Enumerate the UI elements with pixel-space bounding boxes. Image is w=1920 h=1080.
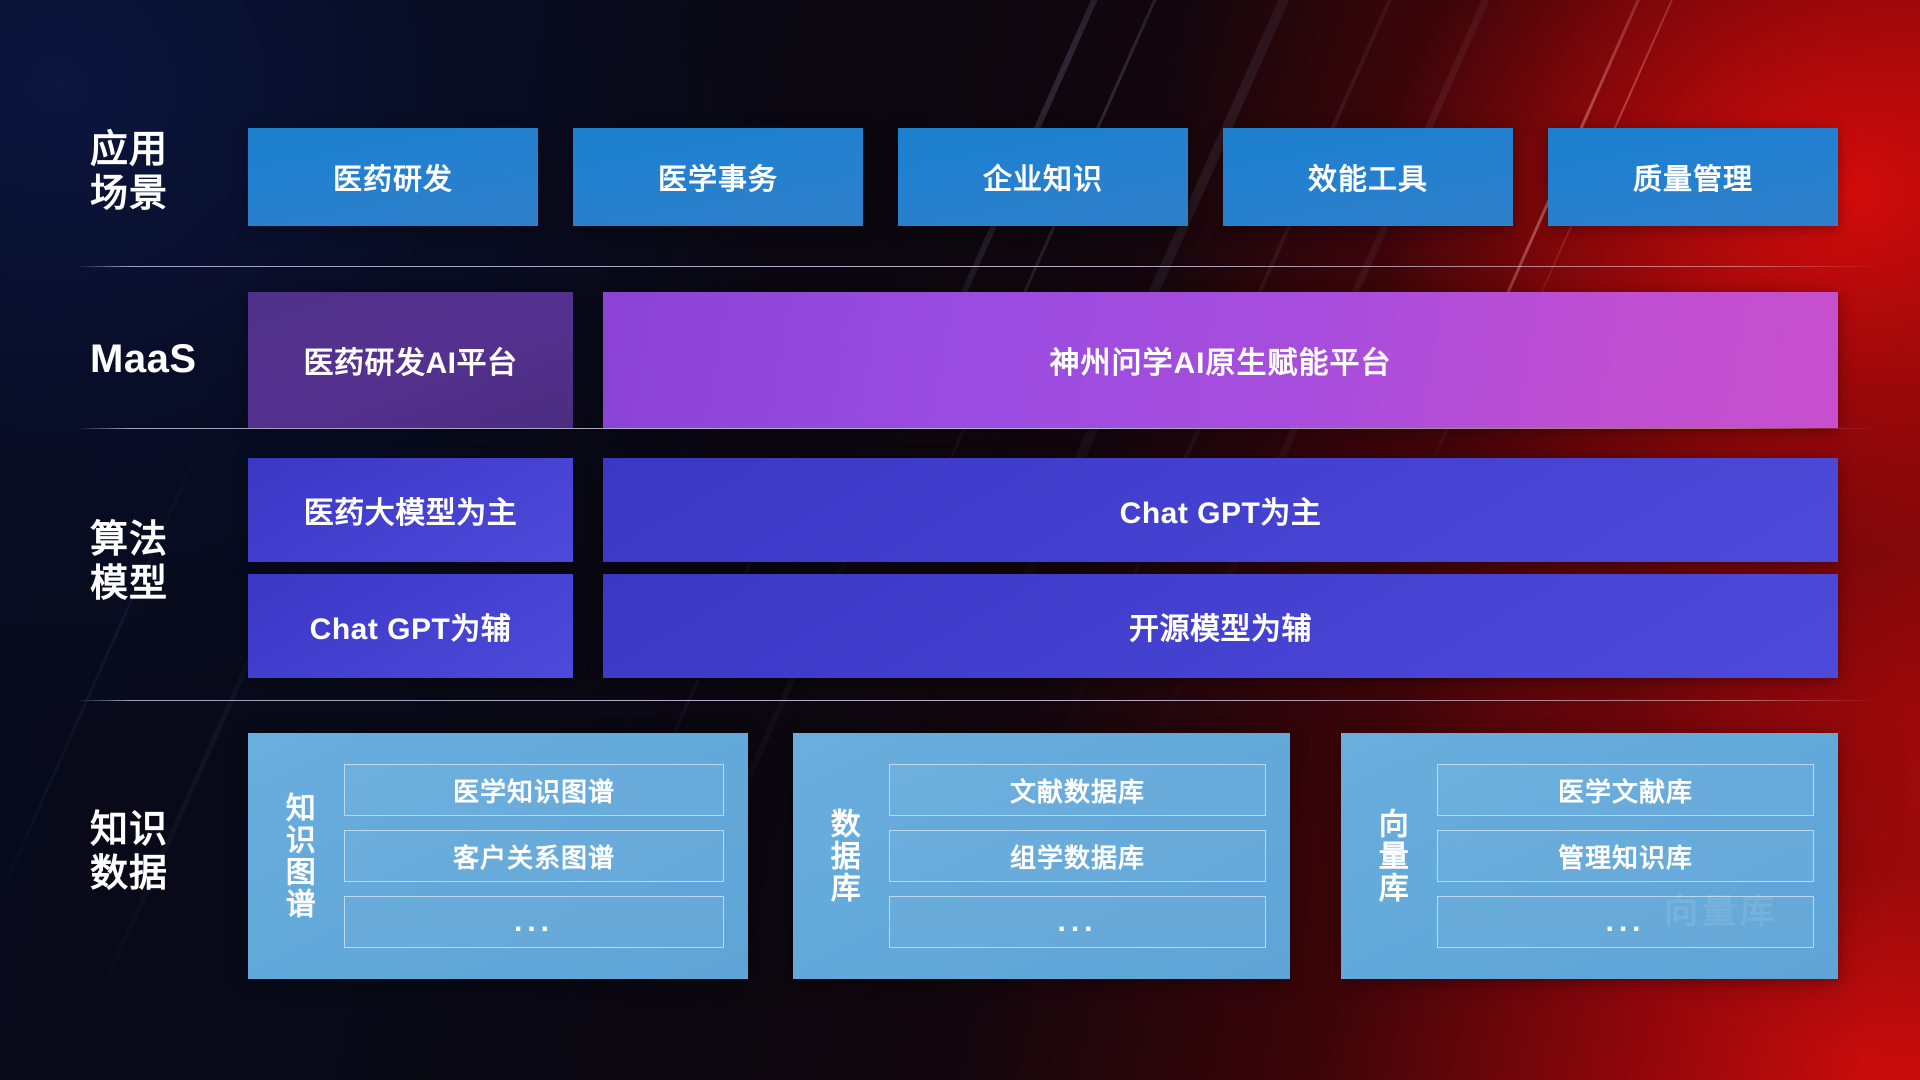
knowledge-panel-vector[interactable]: 向量库 医学文献库 管理知识库 ... 向量库 <box>1341 733 1838 979</box>
knowledge-panel-graph-items: 医学知识图谱 客户关系图谱 ... <box>336 764 748 948</box>
maas-box-shenzhou-platform-label: 神州问学AI原生赋能平台 <box>1050 338 1392 382</box>
algo-box-opensource-secondary[interactable]: 开源模型为辅 <box>603 574 1838 678</box>
scene-box-1[interactable]: 医药研发 <box>248 128 538 226</box>
knowledge-item[interactable]: 组学数据库 <box>889 830 1266 882</box>
knowledge-item[interactable]: 管理知识库 <box>1437 830 1814 882</box>
knowledge-item[interactable]: 文献数据库 <box>889 764 1266 816</box>
algo-box-chatgpt-primary[interactable]: Chat GPT为主 <box>603 458 1838 562</box>
scene-box-2-label: 医学事务 <box>658 156 778 198</box>
maas-box-medical-ai-platform-label: 医药研发AI平台 <box>304 338 518 382</box>
maas-box-shenzhou-platform[interactable]: 神州问学AI原生赋能平台 <box>603 292 1838 428</box>
scene-box-5-label: 质量管理 <box>1633 156 1753 198</box>
divider-1 <box>75 266 1878 267</box>
algo-box-pharma-llm-primary-label: 医药大模型为主 <box>304 488 518 532</box>
knowledge-panel-vector-items: 医学文献库 管理知识库 ... <box>1429 764 1838 948</box>
knowledge-panel-database-category: 数据库 <box>803 766 881 946</box>
knowledge-panel-database[interactable]: 数据库 文献数据库 组学数据库 ... <box>793 733 1290 979</box>
divider-3 <box>75 700 1878 701</box>
scene-box-1-label: 医药研发 <box>333 156 453 198</box>
row-label-maas: MaaS <box>90 336 240 382</box>
diagram-canvas: 应用 场景 医药研发 医学事务 企业知识 效能工具 质量管理 MaaS 医药研发… <box>0 0 1920 1080</box>
knowledge-item[interactable]: 客户关系图谱 <box>344 830 724 882</box>
maas-box-medical-ai-platform[interactable]: 医药研发AI平台 <box>248 292 573 428</box>
row-label-application-scenario: 应用 场景 <box>90 128 240 216</box>
scene-box-2[interactable]: 医学事务 <box>573 128 863 226</box>
scene-box-4[interactable]: 效能工具 <box>1223 128 1513 226</box>
knowledge-panel-graph-category: 知识图谱 <box>258 766 336 946</box>
knowledge-item-more[interactable]: ... <box>1437 896 1814 948</box>
knowledge-panel-vector-category: 向量库 <box>1351 766 1429 946</box>
divider-2 <box>75 428 1878 429</box>
row-label-knowledge-data: 知识 数据 <box>90 808 240 896</box>
algo-box-chatgpt-secondary-label: Chat GPT为辅 <box>310 604 512 648</box>
algo-box-opensource-secondary-label: 开源模型为辅 <box>1129 604 1312 648</box>
knowledge-item[interactable]: 医学文献库 <box>1437 764 1814 816</box>
scene-box-5[interactable]: 质量管理 <box>1548 128 1838 226</box>
algo-box-chatgpt-secondary[interactable]: Chat GPT为辅 <box>248 574 573 678</box>
algo-box-chatgpt-primary-label: Chat GPT为主 <box>1120 488 1322 532</box>
knowledge-item[interactable]: 医学知识图谱 <box>344 764 724 816</box>
knowledge-panel-database-items: 文献数据库 组学数据库 ... <box>881 764 1290 948</box>
scene-box-4-label: 效能工具 <box>1308 156 1428 198</box>
algo-box-pharma-llm-primary[interactable]: 医药大模型为主 <box>248 458 573 562</box>
scene-box-3[interactable]: 企业知识 <box>898 128 1188 226</box>
knowledge-item-more[interactable]: ... <box>344 896 724 948</box>
knowledge-panel-graph[interactable]: 知识图谱 医学知识图谱 客户关系图谱 ... <box>248 733 748 979</box>
scene-box-3-label: 企业知识 <box>983 156 1103 198</box>
knowledge-item-more[interactable]: ... <box>889 896 1266 948</box>
row-label-algorithm-model: 算法 模型 <box>90 518 240 606</box>
